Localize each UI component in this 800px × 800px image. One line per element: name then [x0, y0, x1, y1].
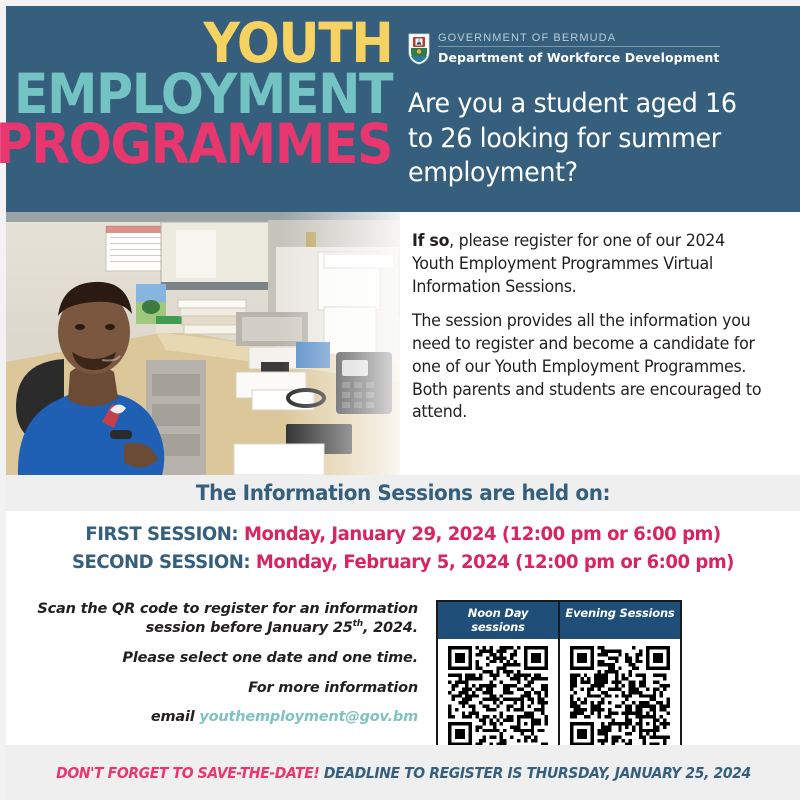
- scan-instructions: Scan the QR code to register for an info…: [6, 600, 436, 727]
- copy-paragraph-1: If so, please register for one of our 20…: [412, 230, 767, 298]
- sessions-band: The Information Sessions are held on:: [6, 475, 800, 511]
- sessions-band-heading: The Information Sessions are held on:: [196, 481, 610, 505]
- copy-paragraph-2: The session provides all the information…: [412, 310, 767, 424]
- scan-line-1-sup: th: [353, 619, 363, 629]
- evening-sessions-qr-code: [570, 646, 670, 746]
- session-value-first: Monday, January 29, 2024 (12:00 pm or 6:…: [244, 523, 721, 545]
- scan-line-2: Please select one date and one time.: [6, 649, 418, 668]
- gov-line-department: Department of Workforce Development: [438, 47, 720, 65]
- government-logo-text: GOVERNMENT OF BERMUDA Department of Work…: [438, 32, 720, 65]
- title-line-programmes: PROGRAMMES: [0, 119, 392, 170]
- sessions-card: FIRST SESSION: Monday, January 29, 2024 …: [6, 511, 800, 745]
- scan-line-3: For more information: [6, 679, 418, 698]
- scan-line-4: email youthemployment@gov.bm: [6, 708, 418, 727]
- qr-header-noon: Noon Day sessions: [438, 602, 560, 639]
- poster-header: YOUTH EMPLOYMENT PROGRAMMES: [6, 6, 800, 212]
- header-right-column: GOVERNMENT OF BERMUDA Department of Work…: [400, 6, 800, 212]
- noon-day-sessions-qr-code: [448, 646, 548, 746]
- scan-line-1-b: , 2024.: [363, 620, 418, 636]
- qr-code-table: Noon Day sessions Evening Sessions: [436, 600, 682, 756]
- gov-line-country: GOVERNMENT OF BERMUDA: [438, 32, 720, 47]
- poster-title-block: YOUTH EMPLOYMENT PROGRAMMES: [6, 6, 400, 212]
- body-copy: If so, please register for one of our 20…: [400, 212, 800, 475]
- email-link[interactable]: youthemployment@gov.bm: [199, 709, 418, 725]
- session-value-second: Monday, February 5, 2024 (12:00 pm or 6:…: [256, 551, 734, 573]
- qr-table-header-row: Noon Day sessions Evening Sessions: [438, 602, 680, 639]
- qr-cell-evening[interactable]: [560, 639, 680, 754]
- poster-body: If so, please register for one of our 20…: [6, 212, 800, 475]
- email-label: email: [151, 709, 195, 725]
- qr-header-evening: Evening Sessions: [560, 602, 680, 639]
- session-row-first: FIRST SESSION: Monday, January 29, 2024 …: [26, 521, 780, 549]
- session-label-second: SECOND SESSION:: [72, 551, 250, 573]
- scan-and-qr-row: Scan the QR code to register for an info…: [6, 600, 800, 756]
- session-row-second: SECOND SESSION: Monday, February 5, 2024…: [26, 549, 780, 577]
- qr-table-body-row: [438, 639, 680, 754]
- footer-save-the-date: DON'T FORGET TO SAVE-THE-DATE!: [56, 764, 319, 782]
- poster-root: YOUTH EMPLOYMENT PROGRAMMES: [0, 0, 800, 800]
- copy-lead-bold: If so: [412, 231, 449, 250]
- copy-paragraph-1-rest: , please register for one of our 2024 Yo…: [412, 231, 725, 296]
- bermuda-coat-of-arms-icon: [408, 33, 430, 65]
- footer-message: DON'T FORGET TO SAVE-THE-DATE! DEADLINE …: [56, 764, 751, 782]
- hero-question: Are you a student aged 16 to 26 looking …: [408, 87, 765, 191]
- poster-footer: DON'T FORGET TO SAVE-THE-DATE! DEADLINE …: [6, 745, 800, 800]
- scan-line-1: Scan the QR code to register for an info…: [6, 600, 418, 638]
- session-label-first: FIRST SESSION:: [85, 523, 238, 545]
- footer-deadline: DEADLINE TO REGISTER IS THURSDAY, JANUAR…: [323, 764, 750, 782]
- qr-cell-noon[interactable]: [438, 639, 560, 754]
- office-photo: [6, 212, 400, 475]
- government-logo: GOVERNMENT OF BERMUDA Department of Work…: [408, 32, 788, 65]
